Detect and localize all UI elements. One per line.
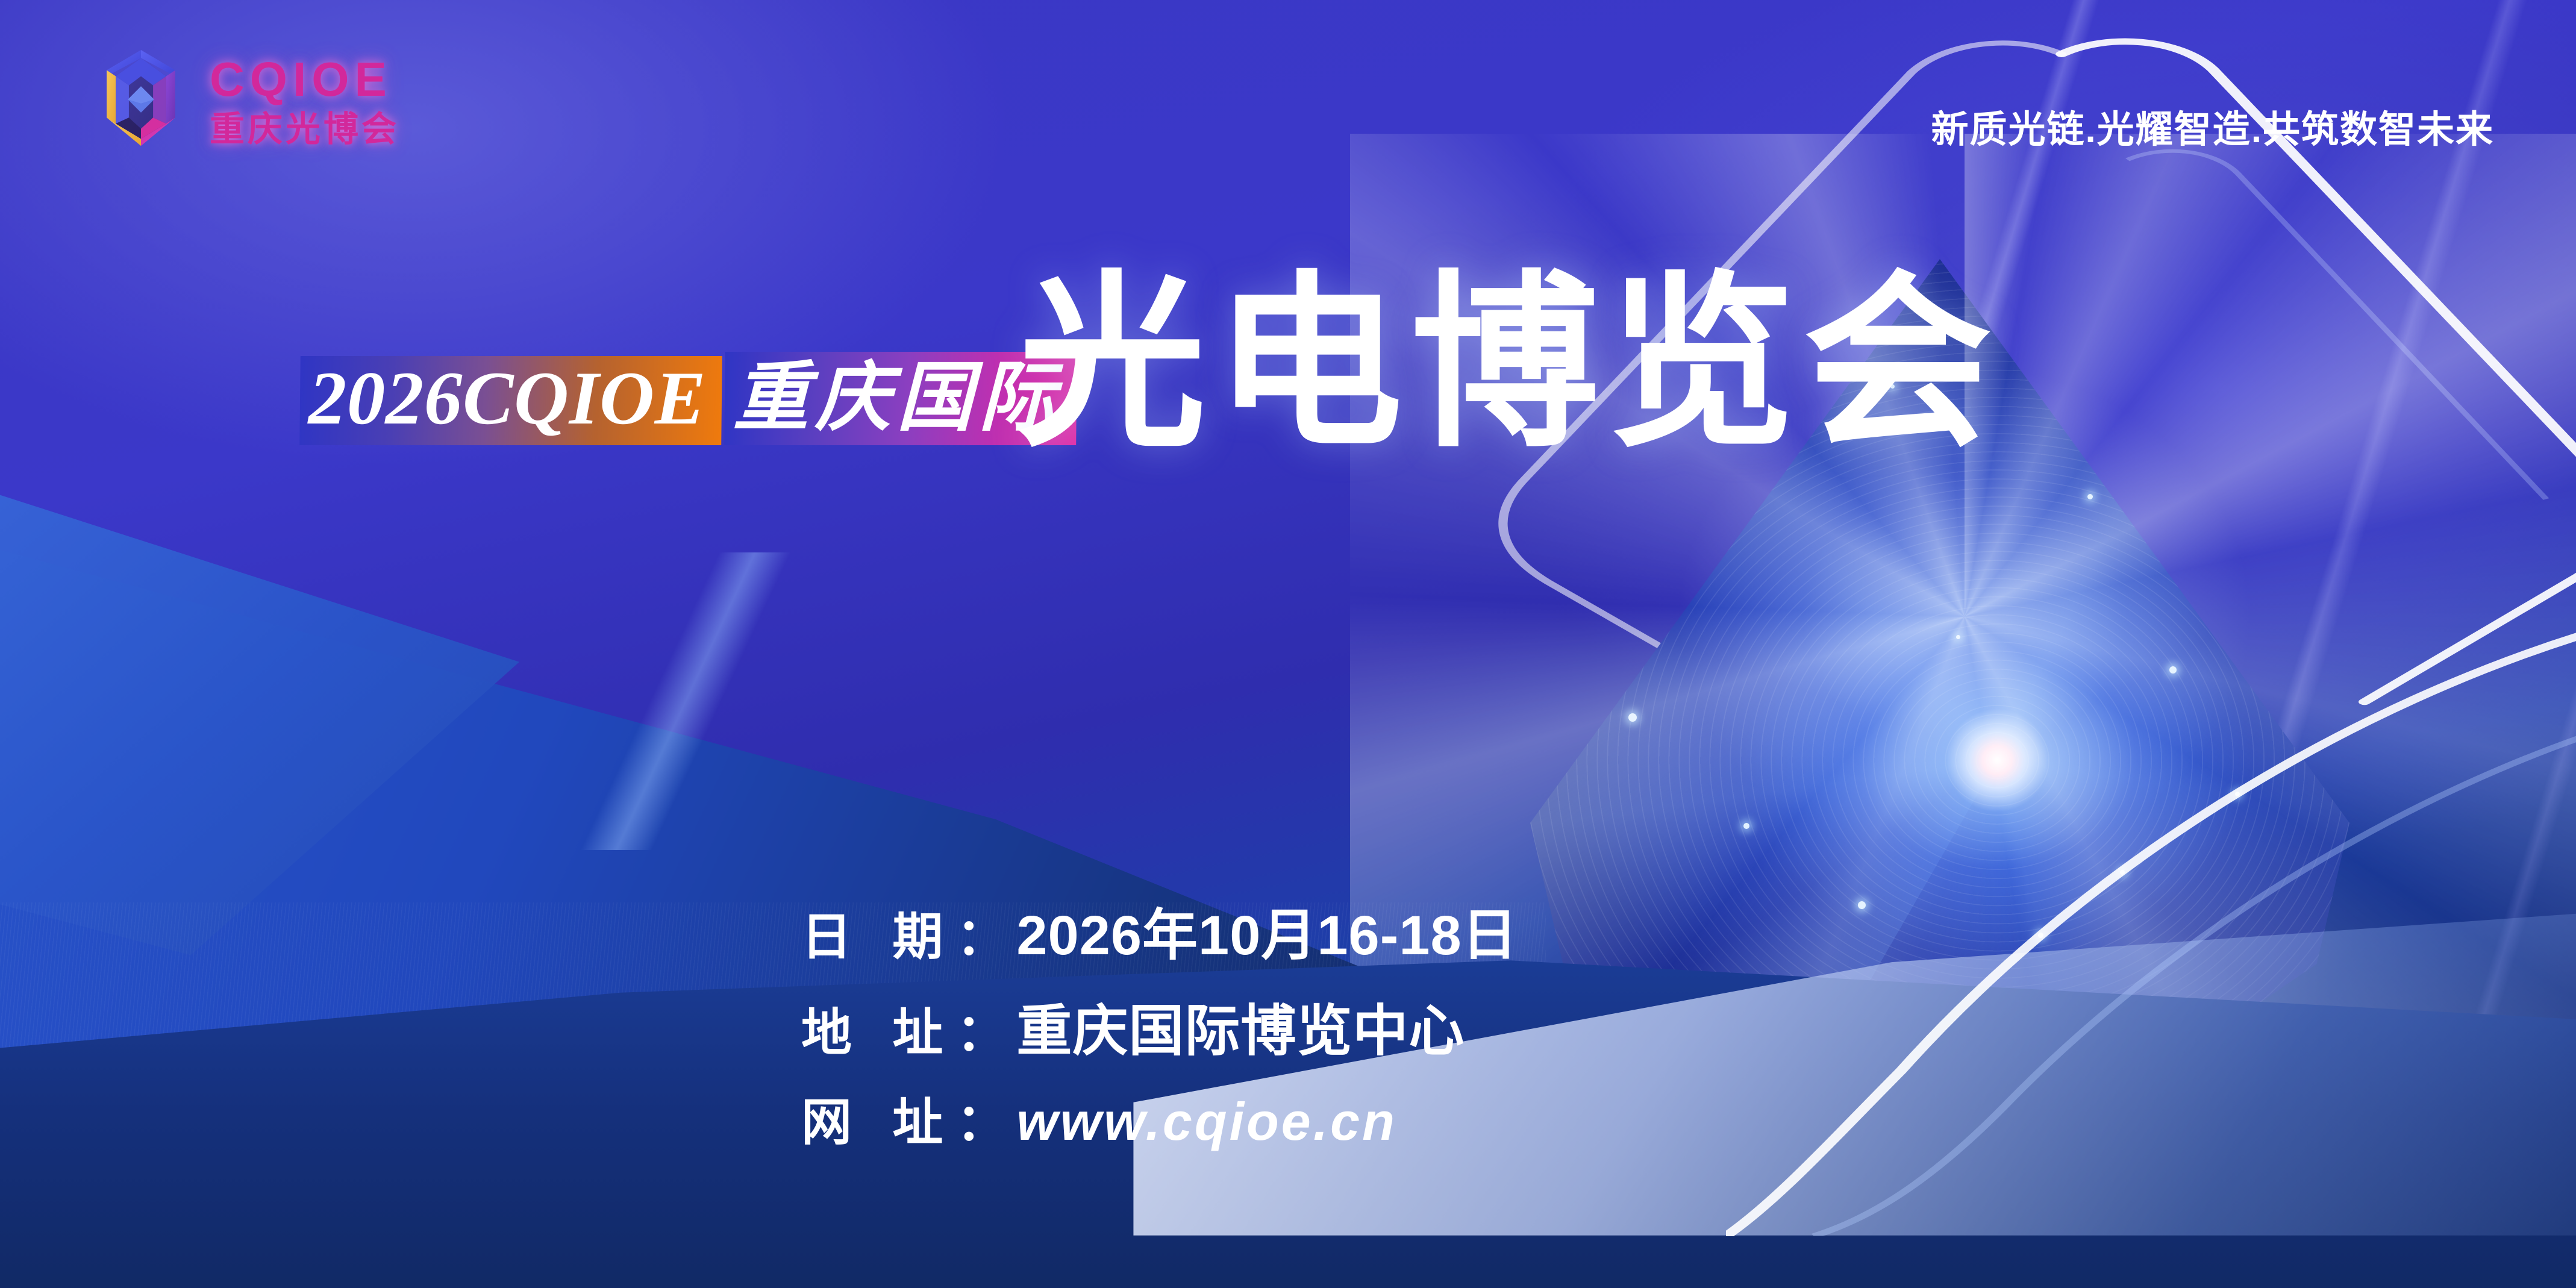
logo-english-text: CQIOE xyxy=(210,55,399,104)
info-row-address: 地 址 ： 重庆国际博览中心 xyxy=(801,986,1518,1066)
info-value-address: 重庆国际博览中心 xyxy=(1016,986,1465,1066)
event-info-block: 日 期 ： 2026年10月16-18日 地 址 ： 重庆国际博览中心 网 址 … xyxy=(801,890,1518,1155)
title-city-cn: 重庆国际 xyxy=(733,358,1061,437)
info-row-website[interactable]: 网 址 ： www.cqioe.cn xyxy=(801,1082,1518,1155)
white-sweep-curve xyxy=(1726,592,2576,1236)
title-block: 2026CQIOE 重庆国际 xyxy=(300,342,1077,445)
brand-logo-lockup[interactable]: CQIOE 重庆光博会 xyxy=(90,47,399,155)
info-colon-website: ： xyxy=(956,1082,1007,1155)
info-label-address: 地 址 xyxy=(801,992,956,1065)
info-value-website[interactable]: www.cqioe.cn xyxy=(1016,1091,1397,1152)
main-headline: 光电博览会 xyxy=(1018,270,2000,458)
cqioe-expo-banner: CQIOE 重庆光博会 新质光链.光耀智造.共筑数智未来 2026CQIOE 重… xyxy=(0,0,2576,1288)
title-year-en: 2026CQIOE xyxy=(308,358,707,439)
rounded-triangle-outline-icon xyxy=(1443,26,2576,1082)
info-value-date: 2026年10月16-18日 xyxy=(1016,890,1518,971)
cqioe-hexagon-cube-logo-icon xyxy=(90,47,192,155)
logo-chinese-text: 重庆光博会 xyxy=(210,112,399,147)
info-label-date: 日 期 xyxy=(801,896,956,969)
tagline: 新质光链.光耀智造.共筑数智未来 xyxy=(1931,99,2494,153)
silk-wave-folds xyxy=(0,412,2576,1288)
info-label-website: 网 址 xyxy=(801,1082,956,1155)
info-row-date: 日 期 ： 2026年10月16-18日 xyxy=(801,890,1518,971)
diagonal-light-streaks xyxy=(1236,0,2576,1030)
info-colon-address: ： xyxy=(956,992,1007,1065)
title-year-en-bar: 2026CQIOE xyxy=(299,356,722,445)
info-colon-date: ： xyxy=(956,896,1007,969)
